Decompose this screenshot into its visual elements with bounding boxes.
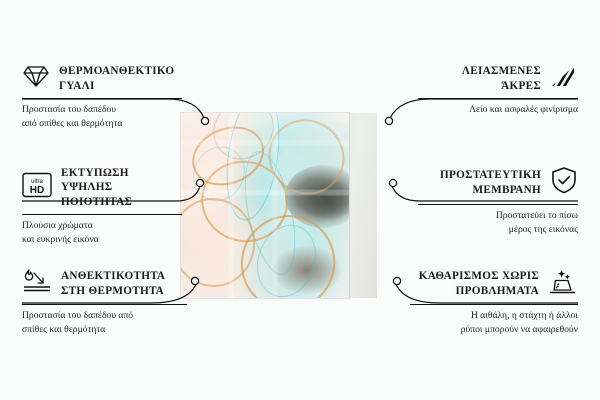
feature-body: Πλούσια χρώματα και ευκρινής εικόνα (22, 219, 182, 246)
feature-title: ΚΑΘΑΡΙΣΜΟΣ ΧΩΡΙΣ ΠΡΟΒΛΗΜΑΤΑ (419, 269, 539, 298)
product-image (181, 113, 377, 298)
connector-dot (389, 179, 396, 186)
divider (418, 98, 578, 99)
feature-title: ΕΚΤΥΠΩΣΗ ΥΨΗΛΗΣ ΠΟΙΟΤΗΤΑΣ (61, 166, 182, 209)
ink-artwork (181, 113, 349, 298)
divider (22, 98, 182, 99)
divider (22, 214, 182, 215)
feature-body: Λείο και ασφαλές φινίρισμα (418, 103, 578, 117)
divider (418, 204, 578, 205)
sponge-sparkle-icon (548, 268, 578, 299)
feature-title: ΛΕΙΑΣΜΕΝΕΣ ΆΚΡΕΣ (462, 64, 541, 93)
divider (410, 304, 578, 305)
glass-panel-artwork (181, 113, 349, 298)
feature-body: Προστασία του δαπέδου από σπίθες και θερ… (22, 309, 187, 336)
feature-body: Η αιθάλη, η στάχτη ή άλλοι ρύποι μπορούν… (410, 309, 578, 336)
infographic-stage: ΘΕΡΜΟΑΝΘΕΚΤΙΚΟ ΓΥΑΛΙ Προστασία του δαπέδ… (0, 0, 600, 400)
feature-easy-cleaning: ΚΑΘΑΡΙΣΜΟΣ ΧΩΡΙΣ ΠΡΟΒΛΗΜΑΤΑ (410, 268, 578, 336)
feature-body: Προστατεύει το πίσω μέρος της εικόνας (418, 209, 578, 236)
connector-dot (385, 117, 392, 124)
shield-check-icon (550, 166, 578, 199)
ultra-hd-icon: ultra HD (22, 172, 52, 203)
feature-protective-membrane: ΠΡΟΣΤΑΤΕΥΤΙΚΗ ΜΕΜΒΡΑΝΗ Προστατεύει το πί… (418, 166, 578, 236)
feature-title: ΑΝΘΕΚΤΙΚΟΤΗΤΑ ΣΤΗ ΘΕΡΜΟΤΗΤΑ (61, 269, 165, 298)
connector-dot (393, 277, 400, 284)
feature-smoothed-edges: ΛΕΙΑΣΜΕΝΕΣ ΆΚΡΕΣ Λείο κ (418, 64, 578, 117)
feature-body: Προστασία του δαπέδου από σπίθες και θερ… (22, 103, 182, 130)
feature-high-quality-print: ultra HD ΕΚΤΥΠΩΣΗ ΥΨΗΛΗΣ ΠΟΙΟΤΗΤΑΣ Πλούσ… (22, 166, 182, 246)
flame-on-surface-icon (22, 268, 52, 299)
feature-title: ΠΡΟΣΤΑΤΕΥΤΙΚΗ ΜΕΜΒΡΑΝΗ (440, 168, 541, 197)
hatched-triangle-icon (550, 64, 578, 93)
feature-heat-durability: ΑΝΘΕΚΤΙΚΟΤΗΤΑ ΣΤΗ ΘΕΡΜΟΤΗΤΑ Προστασία το… (22, 268, 187, 336)
feature-title: ΘΕΡΜΟΑΝΘΕΚΤΙΚΟ ΓΥΑΛΙ (59, 64, 174, 93)
feature-heat-resistant-glass: ΘΕΡΜΟΑΝΘΕΚΤΙΚΟ ΓΥΑΛΙ Προστασία του δαπέδ… (22, 64, 182, 130)
svg-text:HD: HD (30, 185, 44, 196)
divider (22, 304, 187, 305)
diamond-icon (22, 64, 50, 93)
